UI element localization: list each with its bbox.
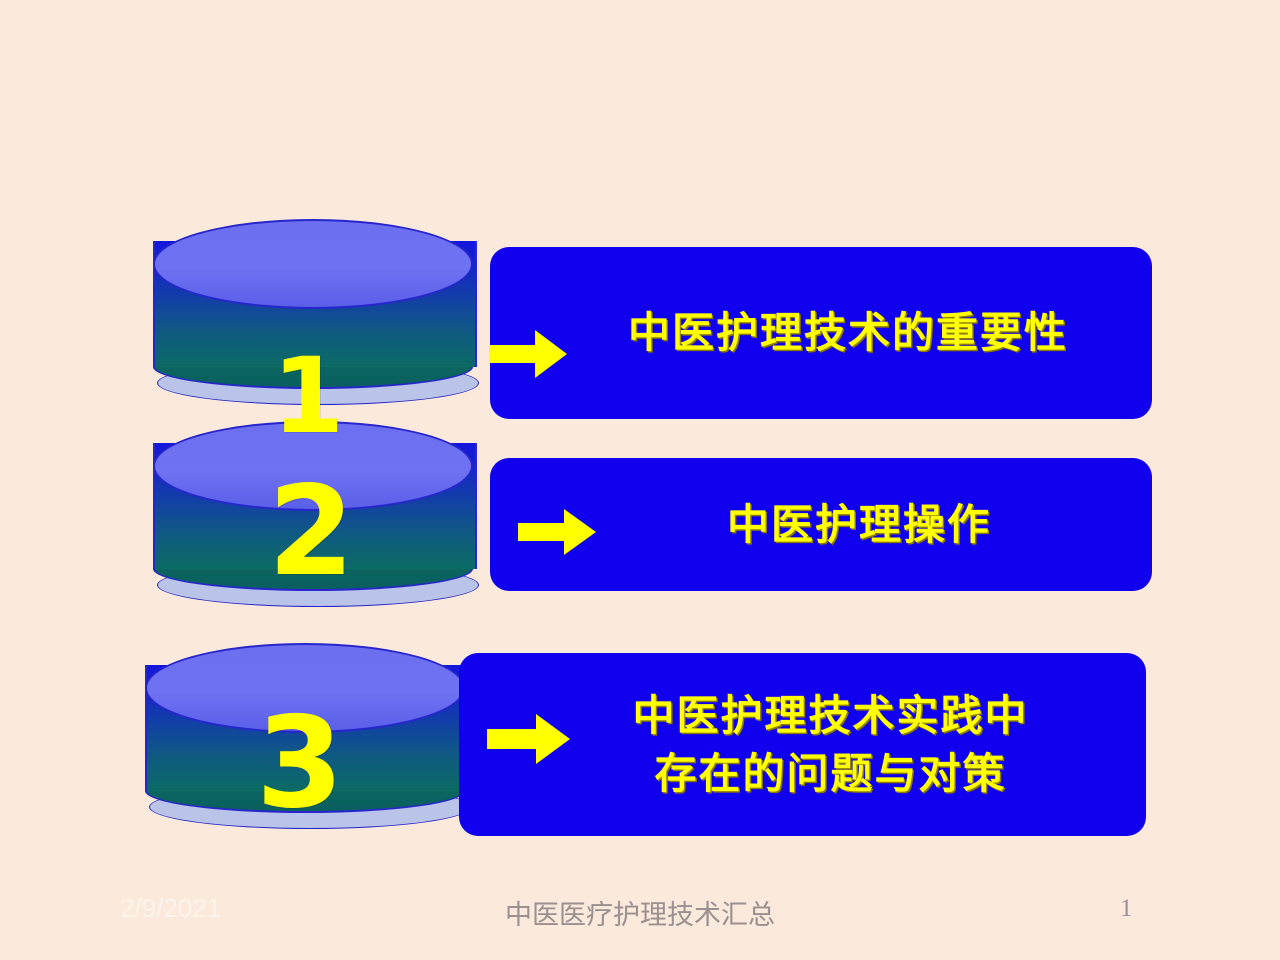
slide-canvas: 1 中医护理技术的重要性 2 中医护理操作 3 中医护理技术实践中 存在的问题与… xyxy=(0,0,1280,960)
topic-box-1[interactable]: 中医护理技术的重要性 xyxy=(490,247,1152,419)
footer-title: 中医医疗护理技术汇总 xyxy=(0,893,1280,932)
cylinder-number-1: 1 xyxy=(272,344,344,448)
topic-box-3-line-1: 中医护理技术实践中 xyxy=(632,687,1028,745)
slide-footer: 2/9/2021 中医医疗护理技术汇总 1 xyxy=(0,893,1280,943)
right-arrow-icon xyxy=(518,508,596,556)
topic-box-3-line-2: 存在的问题与对策 xyxy=(654,745,1006,803)
footer-page-number: 1 xyxy=(1120,895,1133,923)
cylinder-number-3: 3 xyxy=(256,700,344,826)
cylinder-top-cap xyxy=(153,219,473,309)
topic-box-1-line-1: 中医护理技术的重要性 xyxy=(628,304,1068,362)
topic-box-2-line-1: 中医护理操作 xyxy=(727,496,991,554)
cylinder-number-2: 2 xyxy=(268,470,354,594)
right-arrow-icon xyxy=(487,713,570,765)
right-arrow-icon xyxy=(489,329,567,379)
